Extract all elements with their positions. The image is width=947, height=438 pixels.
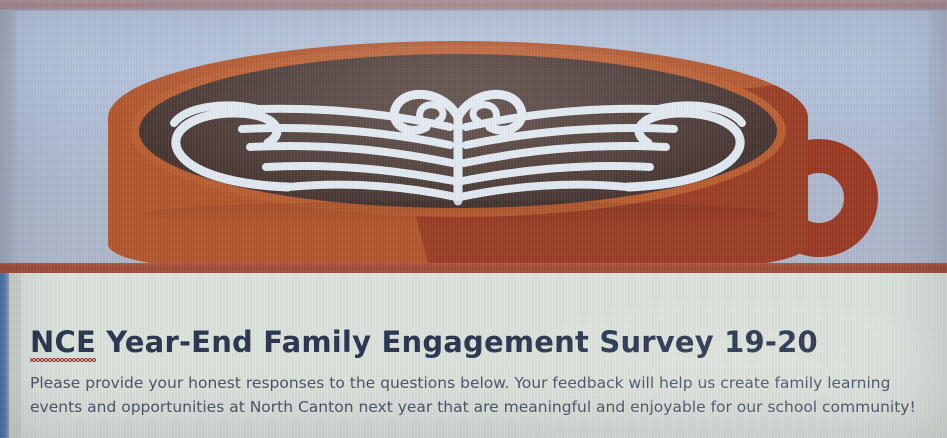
form-description-line-1: Please provide your honest responses to … bbox=[30, 371, 920, 395]
form-title-misspelled-word: NCE bbox=[30, 328, 96, 357]
page-left-edge-strip bbox=[0, 273, 9, 438]
photo-top-edge-strip bbox=[0, 0, 947, 11]
screenshot-root: NCE Year-End Family Engagement Survey 19… bbox=[0, 0, 947, 438]
form-title-rest: Year-End Family Engagement Survey 19-20 bbox=[96, 325, 818, 359]
banner-left-edge bbox=[0, 11, 16, 263]
latte-art-rosetta-icon bbox=[138, 51, 778, 213]
form-description-line-2: events and opportunities at North Canton… bbox=[30, 395, 920, 419]
page-left-inner-margin bbox=[9, 273, 21, 438]
form-accent-divider bbox=[0, 263, 947, 273]
form-header-image bbox=[0, 11, 947, 263]
banner-right-edge bbox=[929, 11, 947, 263]
form-description: Please provide your honest responses to … bbox=[30, 371, 920, 419]
coffee-cup-body bbox=[108, 41, 808, 263]
form-card: NCE Year-End Family Engagement Survey 19… bbox=[0, 273, 947, 438]
form-title: NCE Year-End Family Engagement Survey 19… bbox=[30, 328, 818, 357]
cup-front-rim-shadow bbox=[142, 201, 776, 227]
